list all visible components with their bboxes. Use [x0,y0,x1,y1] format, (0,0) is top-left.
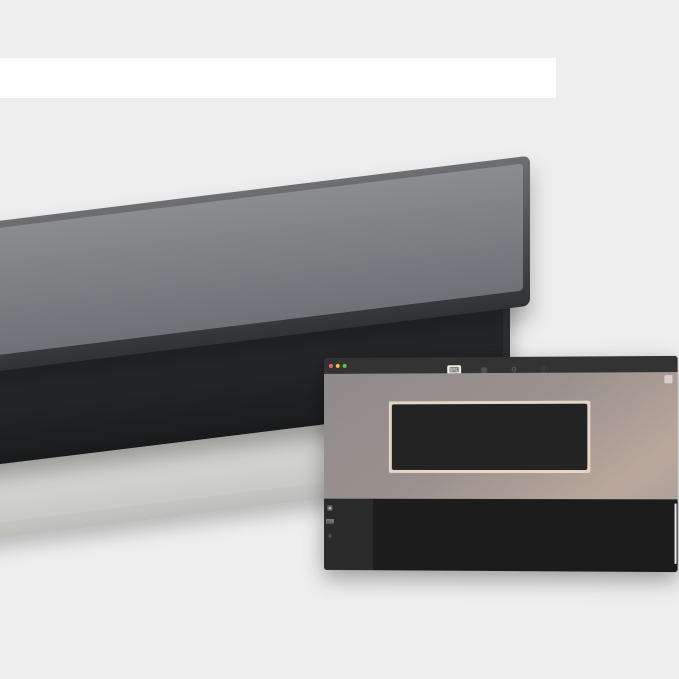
bulb-icon[interactable]: ☼ [327,533,332,539]
picker-sidebar[interactable]: ▣ ⌨ ☼ [324,499,373,571]
headline-background-band [0,58,556,98]
picker-sidebar-icons: ▣ ⌨ ☼ [324,503,336,570]
picker-scrollbar[interactable] [675,503,677,564]
key-picker-panel[interactable]: ▣ ⌨ ☼ [324,499,678,572]
picker-row[interactable] [376,508,674,509]
keymap-row[interactable] [394,443,586,454]
picker-row[interactable] [376,505,674,506]
keymap-inner [392,404,588,470]
keymap-row[interactable] [394,456,586,467]
app-body: ▣ ⌨ ☼ [324,372,678,572]
picker-category-list[interactable] [336,503,373,571]
device-badge [664,375,672,383]
via-app-window[interactable]: ⌨ ▦ ⚙ ⓘ [324,356,678,572]
key-picker-grid[interactable] [373,499,677,572]
keymap-row[interactable] [394,406,586,418]
page-root: ⌨ ▦ ⚙ ⓘ [0,0,679,679]
keymap-row[interactable] [394,418,586,429]
keymap-row[interactable] [394,431,586,442]
picker-row[interactable] [376,503,674,504]
keycap-icon[interactable]: ▣ [327,506,333,512]
keyboard-icon[interactable]: ⌨ [326,519,334,525]
layer-selector[interactable] [330,378,332,387]
keymap-editor[interactable] [389,401,590,473]
